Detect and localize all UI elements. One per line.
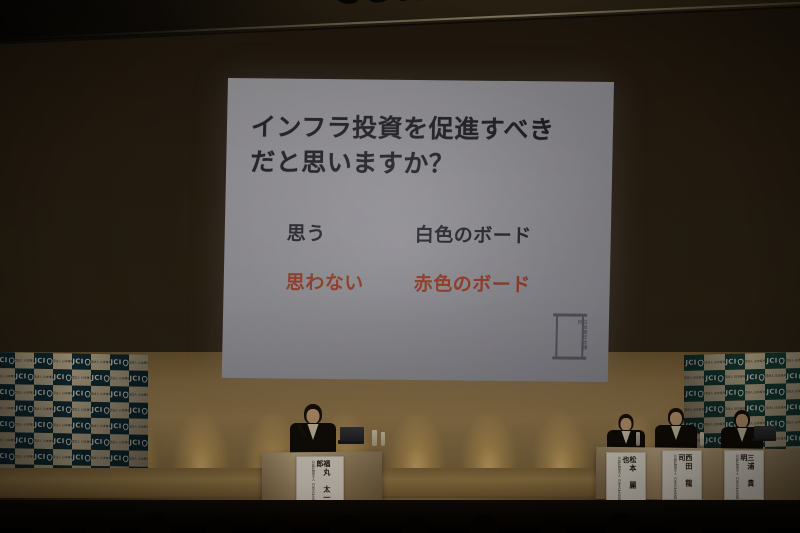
audience-head (330, 515, 360, 533)
jci-logo-text: JCI (787, 403, 798, 411)
jci-tile-caption: 公益社団法人 日本青年会議所 (15, 358, 34, 363)
audience-head (470, 515, 498, 533)
jci-shield-icon (758, 373, 764, 380)
jci-shield-icon (9, 421, 15, 428)
jci-shield-icon (47, 422, 53, 429)
jci-logo-icon: JCI (73, 358, 91, 366)
jci-logo-text: JCI (73, 390, 84, 398)
jci-logo-text: JCI (706, 405, 717, 413)
jci-shield-icon (85, 422, 91, 429)
jci-logo-icon: JCI (73, 454, 91, 462)
jci-tile-caption: 公益社団法人 日本青年会議所 (129, 456, 148, 461)
jci-logo-tile: JCI (110, 386, 129, 402)
jci-shield-icon (104, 375, 110, 382)
jci-logo-icon: JCI (726, 358, 744, 366)
jci-logo-text: JCI (16, 373, 27, 381)
jci-logo-text: JCI (54, 373, 65, 381)
jci-logo-icon: JCI (73, 390, 91, 398)
audience-head (402, 517, 428, 533)
jci-shield-icon (123, 391, 129, 398)
jci-shield-icon (28, 373, 34, 380)
nameplate-name: 福丸 太一郎 (316, 460, 330, 504)
jci-caption-tile: 公益社団法人 日本青年会議所 (129, 387, 148, 403)
jci-tile-caption: 公益社団法人 日本青年会議所 (72, 375, 91, 380)
jci-tile-caption: 公益社団法人 日本青年会議所 (786, 389, 800, 394)
audience-head (740, 515, 768, 533)
jci-logo-icon: JCI (0, 388, 14, 396)
option-yes-board: 白色のボード (415, 220, 533, 248)
jci-tile-caption: 公益社団法人 日本青年会議所 (53, 423, 72, 428)
jci-logo-text: JCI (92, 374, 103, 382)
audience-head (32, 515, 60, 533)
jci-logo-text: JCI (0, 452, 8, 460)
jci-shield-icon (47, 358, 53, 365)
jci-tile-caption: 公益社団法人 日本青年会議所 (110, 408, 129, 413)
jci-caption-tile: 公益社団法人 日本青年会議所 (15, 448, 34, 464)
jci-logo-text: JCI (73, 358, 84, 366)
jci-tile-caption: 公益社団法人 日本青年会議所 (129, 360, 148, 365)
jci-logo-icon: JCI (767, 388, 785, 396)
jci-logo-icon: JCI (35, 421, 53, 429)
jci-logo-text: JCI (130, 407, 141, 415)
jci-logo-tile: JCI (53, 369, 72, 385)
jci-caption-tile: 公益社団法人 日本青年会議所 (786, 383, 800, 399)
jci-logo-tile: JCI (91, 434, 110, 450)
jci-logo-text: JCI (35, 421, 46, 429)
laptop-screen (754, 426, 776, 439)
jci-shield-icon (142, 407, 148, 414)
jci-shield-icon (738, 358, 744, 365)
jci-logo-text: JCI (35, 389, 46, 397)
jci-logo-icon: JCI (726, 389, 744, 397)
jci-shield-icon (142, 439, 148, 446)
jci-logo-icon: JCI (92, 438, 110, 446)
jci-tile-caption: 公益社団法人 日本青年会議所 (0, 374, 15, 379)
jci-tile-caption: 公益社団法人 日本青年会議所 (786, 357, 800, 362)
jci-shield-icon (66, 374, 72, 381)
jci-tile-caption: 公益社団法人 日本青年会議所 (765, 374, 785, 379)
conference-stage-photo: JCI公益社団法人 日本青年会議所JCI公益社団法人 日本青年会議所JCI公益社… (0, 0, 800, 533)
jci-logo-text: JCI (0, 420, 8, 428)
jci-caption-tile: 公益社団法人 日本青年会議所 (53, 449, 72, 465)
jci-caption-tile: 公益社団法人 日本青年会議所 (110, 402, 129, 418)
jci-logo-text: JCI (73, 454, 84, 462)
jci-shield-icon (697, 359, 703, 366)
jci-logo-tile: JCI (72, 385, 91, 401)
jci-shield-icon (779, 420, 785, 427)
jci-tile-caption: 公益社団法人 日本青年会議所 (72, 439, 91, 444)
jci-caption-tile: 公益社団法人 日本青年会議所 (129, 451, 148, 467)
jci-logo-tile: JCI (15, 400, 34, 416)
jci-logo-text: JCI (0, 356, 8, 364)
jci-caption-tile: 公益社団法人 日本青年会議所 (765, 368, 785, 384)
jci-caption-tile: 公益社団法人 日本青年会議所 (110, 434, 129, 450)
jci-logo-tile: JCI (0, 384, 15, 400)
jci-logo-icon: JCI (111, 454, 129, 462)
nameplate-panelist-3: 三浦 貴明 公益社団法人 日本青年会議所 (724, 450, 764, 500)
jci-logo-icon: JCI (130, 375, 148, 383)
jci-logo-icon: JCI (92, 406, 110, 414)
jci-shield-icon (718, 374, 724, 381)
jci-logo-icon: JCI (787, 403, 800, 411)
jci-shield-icon (66, 406, 72, 413)
jci-tile-caption: 公益社団法人 日本青年会議所 (15, 422, 34, 427)
jci-tile-caption: 公益社団法人 日本青年会議所 (34, 438, 53, 443)
jci-logo-tile: JCI (725, 353, 745, 369)
jci-logo-icon: JCI (16, 437, 34, 445)
jci-logo-icon: JCI (130, 407, 148, 415)
jci-logo-tile: JCI (110, 418, 129, 434)
jci-tile-caption: 公益社団法人 日本青年会議所 (91, 456, 110, 461)
jci-logo-tile: JCI (15, 368, 34, 384)
emblem-bar-bottom (552, 356, 586, 359)
jci-logo-text: JCI (0, 388, 8, 396)
jci-caption-tile: 公益社団法人 日本青年会議所 (53, 417, 72, 433)
jci-logo-text: JCI (35, 453, 46, 461)
jci-logo-text: JCI (767, 357, 778, 365)
jci-caption-tile: 公益社団法人 日本青年会議所 (91, 450, 110, 466)
jci-logo-icon: JCI (35, 357, 53, 365)
jci-shield-icon (85, 454, 91, 461)
nameplate-title: 公益社団法人 日本青年会議所 (672, 454, 677, 500)
jci-caption-tile: 公益社団法人 日本青年会議所 (0, 368, 15, 384)
wall-uplight (534, 368, 588, 472)
jci-tile-caption: 公益社団法人 日本青年会議所 (0, 438, 15, 443)
person-face (670, 412, 682, 426)
water-glass (381, 432, 385, 446)
jci-logo-text: JCI (685, 390, 696, 398)
nameplate-panelist-1: 松本 麗也 公益社団法人 日本青年会議所 (606, 452, 646, 502)
jci-caption-tile: 公益社団法人 日本青年会議所 (786, 415, 800, 431)
jci-logo-tile: JCI (725, 385, 745, 401)
jci-caption-tile: 公益社団法人 日本青年会議所 (15, 384, 34, 400)
jci-logo-icon: JCI (0, 420, 14, 428)
jci-shield-icon (85, 358, 91, 365)
slide-option-yes: 思う 白色のボード (287, 219, 598, 249)
jci-caption-tile: 公益社団法人 日本青年会議所 (72, 369, 91, 385)
jci-logo-tile: JCI (129, 435, 148, 451)
jci-tile-caption: 公益社団法人 日本青年会議所 (15, 390, 34, 395)
wall-uplight (390, 368, 444, 472)
jci-caption-tile: 公益社団法人 日本青年会議所 (15, 352, 34, 368)
jci-logo-tile: JCI (110, 450, 129, 466)
nameplate-name: 松本 麗也 (622, 456, 636, 498)
jci-caption-tile: 公益社団法人 日本青年会議所 (110, 370, 129, 386)
jci-logo-text: JCI (685, 359, 696, 367)
jci-tile-caption: 公益社団法人 日本青年会議所 (704, 391, 724, 396)
slide-content: インフラ投資を促進すべき だと思いますか？ 思う 白色のボード 思わない 赤色の… (222, 78, 614, 382)
jci-caption-tile: 公益社団法人 日本青年会議所 (91, 354, 110, 370)
slide-answer-options: 思う 白色のボード 思わない 赤色のボード (285, 219, 597, 320)
jci-tile-caption: 公益社団法人 日本青年会議所 (765, 405, 785, 410)
jci-logo-tile: JCI (34, 417, 53, 433)
jci-logo-tile: JCI (34, 385, 53, 401)
jci-caption-tile: 公益社団法人 日本青年会議所 (34, 401, 53, 417)
audience-head (268, 519, 292, 533)
jci-logo-tile: JCI (53, 433, 72, 449)
jci-logo-icon: JCI (746, 373, 764, 381)
jci-logo-text: JCI (35, 357, 46, 365)
jci-logo-tile: JCI (91, 370, 110, 386)
jci-caption-tile: 公益社団法人 日本青年会議所 (0, 432, 15, 448)
jci-tile-caption: 公益社団法人 日本青年会議所 (91, 392, 110, 397)
jci-shield-icon (28, 437, 34, 444)
jci-tile-caption: 公益社団法人 日本青年会議所 (53, 455, 72, 460)
jci-caption-tile: 公益社団法人 日本青年会議所 (704, 354, 724, 370)
audience-head (606, 513, 636, 533)
jci-logo-icon: JCI (787, 435, 800, 443)
jci-shield-icon (9, 357, 15, 364)
jci-shield-icon (697, 390, 703, 397)
jci-logo-text: JCI (706, 374, 717, 382)
jci-logo-icon: JCI (54, 405, 72, 413)
jci-tile-caption: 公益社団法人 日本青年会議所 (725, 375, 745, 380)
projection-screen: インフラ投資を促進すべき だと思いますか？ 思う 白色のボード 思わない 赤色の… (222, 78, 614, 382)
jci-shield-icon (9, 453, 15, 460)
jci-caption-tile: 公益社団法人 日本青年会議所 (765, 400, 785, 416)
jci-shield-icon (779, 357, 785, 364)
jci-logo-tile: JCI (765, 352, 785, 368)
slide-title: インフラ投資を促進すべき だと思いますか？ (250, 110, 591, 183)
jci-logo-tile: JCI (15, 432, 34, 448)
jci-tile-caption: 公益社団法人 日本青年会議所 (129, 392, 148, 397)
jci-caption-tile: 公益社団法人 日本青年会議所 (53, 385, 72, 401)
jci-caption-tile: 公益社団法人 日本青年会議所 (72, 401, 91, 417)
jci-tile-caption: 公益社団法人 日本青年会議所 (91, 360, 110, 365)
jci-caption-tile: 公益社団法人 日本青年会議所 (129, 419, 148, 435)
jci-caption-tile: 公益社団法人 日本青年会議所 (34, 369, 53, 385)
jci-logo-tile: JCI (34, 449, 53, 465)
option-no-answer: 思わない (285, 268, 414, 296)
jci-logo-tile: JCI (91, 402, 110, 418)
jci-logo-tile: JCI (786, 431, 800, 447)
jci-tile-caption: 公益社団法人 日本青年会議所 (91, 424, 110, 429)
jci-logo-icon: JCI (54, 437, 72, 445)
jci-logo-tile: JCI (110, 354, 129, 370)
jci-logo-text: JCI (726, 358, 737, 366)
jci-shield-icon (123, 359, 129, 366)
jci-caption-tile: 公益社団法人 日本青年会議所 (725, 369, 745, 385)
jci-tile-caption: 公益社団法人 日本青年会議所 (684, 376, 704, 381)
jci-logo-text: JCI (54, 405, 65, 413)
jci-caption-tile: 公益社団法人 日本青年会議所 (704, 385, 724, 401)
water-bottle (372, 430, 377, 446)
jci-shield-icon (47, 454, 53, 461)
jci-shield-icon (28, 405, 34, 412)
wall-uplight (462, 368, 516, 472)
nameplate-title: 公益社団法人 日本青年会議所 (616, 456, 621, 502)
audience-silhouettes (0, 500, 800, 533)
wall-uplight (174, 368, 228, 472)
jci-logo-icon: JCI (706, 374, 724, 382)
jci-tile-caption: 公益社団法人 日本青年会議所 (110, 376, 129, 381)
jci-logo-tile: JCI (786, 399, 800, 415)
jci-logo-icon: JCI (73, 422, 91, 430)
jci-logo-icon: JCI (787, 372, 800, 380)
jci-logo-icon: JCI (130, 439, 148, 447)
jci-caption-tile: 公益社団法人 日本青年会議所 (129, 355, 148, 371)
jci-logo-text: JCI (16, 437, 27, 445)
jci-caption-tile: 公益社団法人 日本青年会議所 (72, 433, 91, 449)
jci-shield-icon (104, 439, 110, 446)
jci-logo-text: JCI (111, 358, 122, 366)
jci-tile-caption: 公益社団法人 日本青年会議所 (72, 407, 91, 412)
jci-logo-text: JCI (92, 406, 103, 414)
audience-head (676, 517, 702, 533)
jci-logo-icon: JCI (767, 357, 785, 365)
audience-head (86, 519, 110, 533)
jci-logo-tile: JCI (786, 368, 800, 384)
jci-logo-icon: JCI (0, 356, 14, 364)
jci-logo-text: JCI (787, 372, 798, 380)
audience-head (206, 517, 232, 533)
jci-caption-tile: 公益社団法人 日本青年会議所 (91, 418, 110, 434)
jci-logo-text: JCI (111, 454, 122, 462)
nameplate-name: 三浦 貴明 (740, 454, 754, 496)
jci-logo-icon: JCI (35, 453, 53, 461)
nameplate-title: 公益社団法人 日本青年会議所 (734, 454, 739, 500)
jci-logo-tile: JCI (684, 354, 704, 370)
jci-logo-tile: JCI (0, 448, 15, 464)
jci-logo-icon: JCI (111, 390, 129, 398)
nameplate-panelist-2: 西田 龍司 公益社団法人 日本青年会議所 (662, 450, 702, 500)
jci-shield-icon (47, 390, 53, 397)
jci-caption-tile: 公益社団法人 日本青年会議所 (786, 352, 800, 368)
jci-logo-text: JCI (73, 422, 84, 430)
jci-logo-text: JCI (92, 438, 103, 446)
jci-shield-icon (142, 375, 148, 382)
jci-shield-icon (738, 389, 744, 396)
jci-shield-icon (779, 388, 785, 395)
jci-logo-tile: JCI (684, 386, 704, 402)
slide-title-line-1: インフラ投資を促進すべき (251, 110, 592, 148)
jci-tile-caption: 公益社団法人 日本青年会議所 (34, 406, 53, 411)
jci-logo-tile: JCI (129, 371, 148, 387)
slide-emblem-icon: 日本青年会議所 (552, 313, 587, 359)
jci-logo-icon: JCI (35, 389, 53, 397)
jci-logo-icon: JCI (92, 374, 110, 382)
jci-caption-tile: 公益社団法人 日本青年会議所 (34, 433, 53, 449)
jci-shield-icon (104, 407, 110, 414)
person-face (736, 414, 748, 428)
jci-tile-caption: 公益社団法人 日本青年会議所 (745, 358, 765, 363)
jci-logo-icon: JCI (685, 359, 703, 367)
jci-tile-caption: 公益社団法人 日本青年会議所 (53, 359, 72, 364)
jci-tile-caption: 公益社団法人 日本青年会議所 (53, 391, 72, 396)
jci-logo-icon: JCI (16, 405, 34, 413)
jci-logo-tile: JCI (129, 403, 148, 419)
jci-caption-tile: 公益社団法人 日本青年会議所 (745, 384, 765, 400)
jci-logo-tile: JCI (0, 352, 15, 368)
jci-tile-caption: 公益社団法人 日本青年会議所 (0, 406, 15, 411)
jci-logo-tile: JCI (72, 353, 91, 369)
jci-tile-caption: 公益社団法人 日本青年会議所 (34, 374, 53, 379)
jci-shield-icon (9, 389, 15, 396)
jci-shield-icon (66, 438, 72, 445)
jci-caption-tile: 公益社団法人 日本青年会議所 (684, 370, 704, 386)
audience-head (140, 513, 170, 533)
jci-logo-icon: JCI (111, 358, 129, 366)
jci-logo-icon: JCI (0, 452, 14, 460)
jci-logo-text: JCI (130, 439, 141, 447)
jci-logo-tile: JCI (765, 384, 785, 400)
laptop-screen (340, 427, 364, 441)
jci-logo-text: JCI (746, 373, 757, 381)
jci-tile-caption: 公益社団法人 日本青年会議所 (745, 390, 765, 395)
jci-logo-text: JCI (767, 388, 778, 396)
jci-logo-tile: JCI (72, 449, 91, 465)
jci-tile-caption: 公益社団法人 日本青年会議所 (129, 424, 148, 429)
jci-logo-tile: JCI (704, 370, 724, 386)
jci-logo-icon: JCI (685, 390, 703, 398)
jci-caption-tile: 公益社団法人 日本青年会議所 (745, 353, 765, 369)
slide-option-no: 思わない 赤色のボード (285, 268, 596, 298)
jci-logo-text: JCI (130, 375, 141, 383)
jci-tile-caption: 公益社団法人 日本青年会議所 (110, 440, 129, 445)
jci-shield-icon (123, 423, 129, 430)
jci-logo-icon: JCI (16, 373, 34, 381)
person-face (307, 409, 320, 424)
jci-tile-caption: 公益社団法人 日本青年会議所 (704, 359, 724, 364)
audience-head (540, 519, 566, 533)
water-bottle (700, 432, 704, 446)
jci-caption-tile: 公益社団法人 日本青年会議所 (15, 416, 34, 432)
jci-logo-tile: JCI (745, 369, 765, 385)
jci-tile-caption: 公益社団法人 日本青年会議所 (15, 454, 34, 459)
jci-logo-tile: JCI (53, 401, 72, 417)
jci-logo-text: JCI (787, 435, 798, 443)
jci-logo-text: JCI (111, 390, 122, 398)
option-no-board: 赤色のボード (413, 269, 531, 297)
slide-title-line-2: だと思いますか？ (250, 145, 591, 183)
jci-shield-icon (85, 390, 91, 397)
jci-logo-icon: JCI (54, 373, 72, 381)
water-bottle (636, 432, 640, 446)
jci-shield-icon (123, 455, 129, 462)
jci-logo-text: JCI (706, 437, 717, 445)
jci-logo-text: JCI (726, 389, 737, 397)
jci-logo-text: JCI (111, 422, 122, 430)
jci-logo-tile: JCI (0, 416, 15, 432)
jci-logo-text: JCI (54, 437, 65, 445)
jci-caption-tile: 公益社団法人 日本青年会議所 (91, 386, 110, 402)
jci-logo-text: JCI (16, 405, 27, 413)
jci-logo-tile: JCI (34, 353, 53, 369)
emblem-text: 日本青年会議所 (552, 319, 587, 353)
nameplate-name: 西田 龍司 (678, 454, 692, 496)
option-yes-answer: 思う (287, 219, 416, 247)
jci-logo-icon: JCI (111, 422, 129, 430)
jci-tile-caption: 公益社団法人 日本青年会議所 (786, 420, 800, 425)
jci-caption-tile: 公益社団法人 日本青年会議所 (53, 353, 72, 369)
jci-logo-tile: JCI (72, 417, 91, 433)
jci-caption-tile: 公益社団法人 日本青年会議所 (0, 400, 15, 416)
